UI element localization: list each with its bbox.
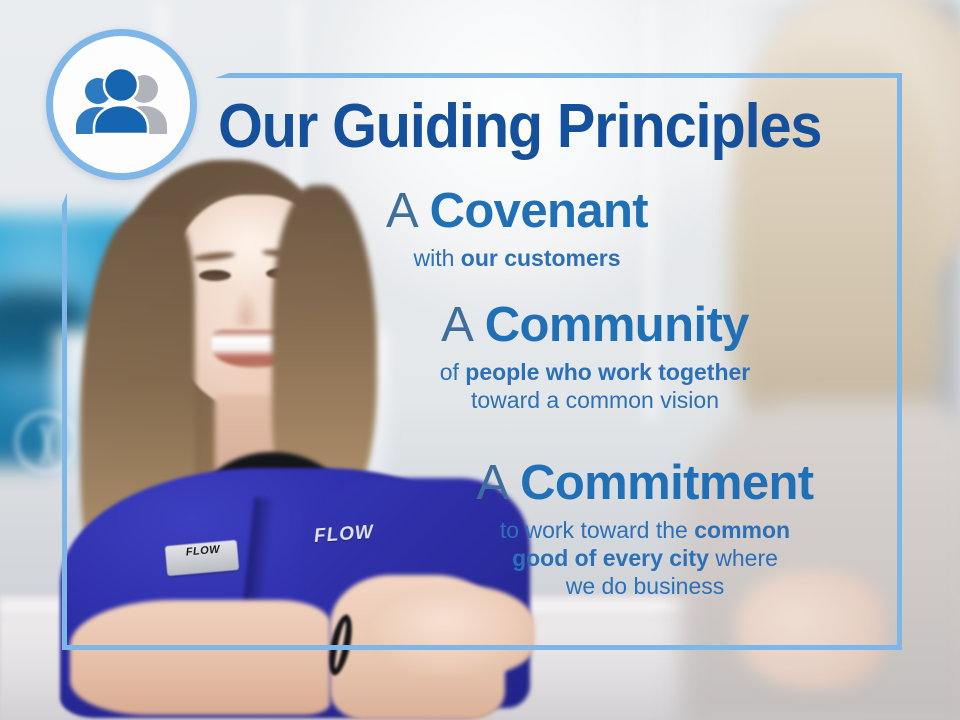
principle-heading: A Covenant: [272, 186, 762, 237]
principle-keyword: Covenant: [430, 184, 648, 238]
principle-subtext-line: with our customers: [272, 244, 762, 272]
plain-text: where: [709, 545, 778, 571]
principle-keyword: Community: [485, 298, 749, 352]
principle-commitment: A Commitment to work toward the commongo…: [400, 458, 890, 600]
plain-text: toward a common vision: [471, 387, 719, 413]
emphasis-text: good of every city: [512, 545, 709, 571]
principle-subtext-line: to work toward the common: [400, 516, 890, 544]
principle-community: A Community of people who work togethert…: [350, 300, 840, 414]
principle-subtext: with our customers: [272, 244, 762, 272]
page-title: Our Guiding Principles: [218, 96, 869, 158]
principle-subtext-line: of people who work together: [350, 358, 840, 386]
principle-heading: A Commitment: [400, 458, 890, 509]
principle-subtext: of people who work togethertoward a comm…: [350, 358, 840, 414]
text-content: Our Guiding Principles A Covenant with o…: [0, 0, 960, 720]
principle-article: A: [386, 184, 430, 238]
emphasis-text: people who work together: [465, 359, 750, 385]
principle-covenant: A Covenant with our customers: [272, 186, 762, 272]
plain-text: with: [413, 245, 460, 271]
plain-text: of: [440, 359, 466, 385]
principle-article: A: [441, 298, 485, 352]
principle-subtext-line: good of every city where: [400, 544, 890, 572]
plain-text: we do business: [566, 573, 725, 599]
principle-subtext-line: toward a common vision: [350, 386, 840, 414]
principle-subtext-line: we do business: [400, 572, 890, 600]
emphasis-text: common: [694, 517, 790, 543]
emphasis-text: our customers: [461, 245, 621, 271]
guiding-principles-graphic: FLOW FLOW O: [0, 0, 960, 720]
principle-subtext: to work toward the commongood of every c…: [400, 516, 890, 600]
plain-text: to work toward the: [500, 517, 694, 543]
principle-keyword: Commitment: [520, 456, 813, 510]
principle-heading: A Community: [350, 300, 840, 351]
principle-article: A: [476, 456, 520, 510]
